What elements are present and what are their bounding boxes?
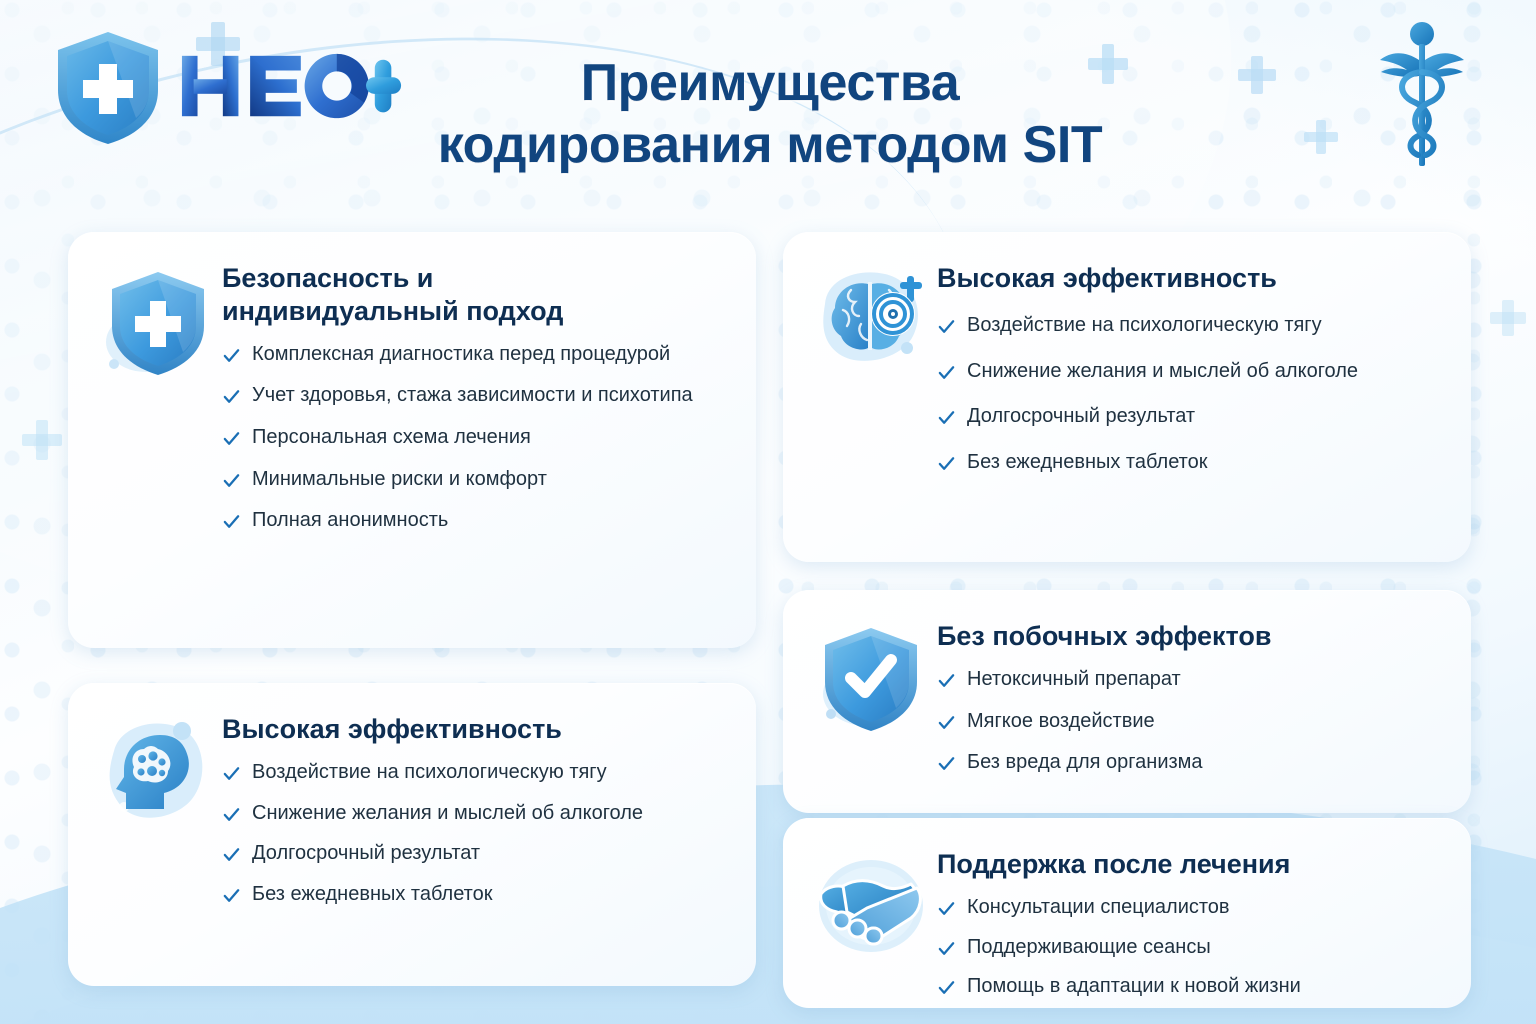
card-title: Безопасность и индивидуальный подход bbox=[222, 262, 730, 328]
card-title-line-2: индивидуальный подход bbox=[222, 295, 730, 328]
card-title-line-1: Без побочных эффектов bbox=[937, 620, 1445, 653]
list-item: Воздействие на психологическую тягу bbox=[222, 760, 730, 786]
card-title: Поддержка после лечения bbox=[937, 848, 1445, 881]
card-body: Высокая эффективность Воздействие на пси… bbox=[222, 709, 730, 962]
list-item-text: Нетоксичный препарат bbox=[967, 667, 1445, 693]
card-no-side-effects: Без побочных эффектов Нетоксичный препар… bbox=[783, 590, 1471, 813]
list-item: Без ежедневных таблеток bbox=[222, 882, 730, 908]
card-effectiveness-right: Высокая эффективность Воздействие на пси… bbox=[783, 232, 1471, 562]
list-item: Нетоксичный препарат bbox=[937, 667, 1445, 693]
list-item-text: Учет здоровья, стажа зависимости и психо… bbox=[252, 383, 730, 409]
list-item: Полная анонимность bbox=[222, 508, 730, 534]
shield-cross-icon bbox=[100, 264, 212, 384]
check-icon bbox=[937, 754, 956, 773]
card-effectiveness-left: Высокая эффективность Воздействие на пси… bbox=[68, 683, 756, 986]
page-title: Преимущества кодирования методом SIT bbox=[300, 52, 1240, 177]
card-icon-wrap bbox=[805, 258, 937, 538]
list-item: Мягкое воздействие bbox=[937, 709, 1445, 735]
check-icon bbox=[222, 512, 241, 531]
check-icon bbox=[937, 713, 956, 732]
feature-list: Комплексная диагностика перед процедурой… bbox=[222, 342, 730, 534]
card-title: Высокая эффективность bbox=[937, 262, 1445, 295]
list-item-text: Без ежедневных таблеток bbox=[252, 882, 730, 908]
check-icon bbox=[222, 471, 241, 490]
card-body: Поддержка после лечения Консультации спе… bbox=[937, 844, 1445, 984]
list-item-text: Без вреда для организма bbox=[967, 750, 1445, 776]
check-icon bbox=[937, 408, 956, 427]
head-brain-icon bbox=[98, 715, 214, 831]
check-icon bbox=[937, 978, 956, 997]
card-title: Без побочных эффектов bbox=[937, 620, 1445, 653]
feature-list: Воздействие на психологическую тягу Сниж… bbox=[222, 760, 730, 907]
check-icon bbox=[222, 346, 241, 365]
list-item: Поддерживающие сеансы bbox=[937, 935, 1445, 961]
handshake-icon bbox=[813, 850, 929, 962]
page-title-line-1: Преимущества bbox=[300, 52, 1240, 114]
card-title-line-1: Безопасность и bbox=[222, 262, 730, 295]
shield-check-icon bbox=[815, 622, 927, 740]
card-title-line-1: Высокая эффективность bbox=[937, 262, 1445, 295]
check-icon bbox=[222, 764, 241, 783]
list-item-text: Персональная схема лечения bbox=[252, 425, 730, 451]
list-item: Минимальные риски и комфорт bbox=[222, 467, 730, 493]
page-title-line-2: кодирования методом SIT bbox=[300, 114, 1240, 176]
card-title-line-1: Поддержка после лечения bbox=[937, 848, 1445, 881]
list-item: Без ежедневных таблеток bbox=[937, 450, 1445, 476]
list-item-text: Снижение желания и мыслей об алкоголе bbox=[967, 359, 1445, 385]
decorative-cross-icon bbox=[1490, 300, 1526, 336]
check-icon bbox=[937, 317, 956, 336]
list-item: Персональная схема лечения bbox=[222, 425, 730, 451]
list-item-text: Мягкое воздействие bbox=[967, 709, 1445, 735]
check-icon bbox=[937, 363, 956, 382]
list-item: Консультации специалистов bbox=[937, 895, 1445, 921]
check-icon bbox=[222, 429, 241, 448]
shield-cross-icon bbox=[52, 28, 164, 146]
card-icon-wrap bbox=[90, 258, 222, 624]
list-item: Долгосрочный результат bbox=[222, 841, 730, 867]
list-item-text: Долгосрочный результат bbox=[252, 841, 730, 867]
list-item: Помощь в адаптации к новой жизни bbox=[937, 974, 1445, 1000]
list-item-text: Комплексная диагностика перед процедурой bbox=[252, 342, 730, 368]
card-icon-wrap bbox=[90, 709, 222, 962]
list-item: Без вреда для организма bbox=[937, 750, 1445, 776]
card-icon-wrap bbox=[805, 844, 937, 984]
list-item-text: Поддерживающие сеансы bbox=[967, 935, 1445, 961]
decorative-cross-icon bbox=[22, 420, 62, 460]
card-title-line-1: Высокая эффективность bbox=[222, 713, 730, 746]
list-item-text: Без ежедневных таблеток bbox=[967, 450, 1445, 476]
list-item-text: Воздействие на психологическую тягу bbox=[967, 313, 1445, 339]
list-item: Воздействие на психологическую тягу bbox=[937, 313, 1445, 339]
list-item-text: Воздействие на психологическую тягу bbox=[252, 760, 730, 786]
card-title: Высокая эффективность bbox=[222, 713, 730, 746]
check-icon bbox=[222, 886, 241, 905]
check-icon bbox=[937, 671, 956, 690]
list-item: Снижение желания и мыслей об алкоголе bbox=[222, 801, 730, 827]
check-icon bbox=[222, 845, 241, 864]
list-item-text: Минимальные риски и комфорт bbox=[252, 467, 730, 493]
card-body: Высокая эффективность Воздействие на пси… bbox=[937, 258, 1445, 538]
list-item-text: Долгосрочный результат bbox=[967, 404, 1445, 430]
caduceus-icon bbox=[1374, 18, 1470, 178]
check-icon bbox=[222, 805, 241, 824]
card-safety: Безопасность и индивидуальный подход Ком… bbox=[68, 232, 756, 648]
check-icon bbox=[222, 387, 241, 406]
list-item-text: Консультации специалистов bbox=[967, 895, 1445, 921]
card-body: Безопасность и индивидуальный подход Ком… bbox=[222, 258, 730, 624]
feature-list: Консультации специалистов Поддерживающие… bbox=[937, 895, 1445, 1000]
list-item-text: Помощь в адаптации к новой жизни bbox=[967, 974, 1445, 1000]
list-item: Учет здоровья, стажа зависимости и психо… bbox=[222, 383, 730, 409]
list-item: Долгосрочный результат bbox=[937, 404, 1445, 430]
check-icon bbox=[937, 899, 956, 918]
brain-target-icon bbox=[811, 264, 931, 376]
check-icon bbox=[937, 454, 956, 473]
check-icon bbox=[937, 939, 956, 958]
card-icon-wrap bbox=[805, 616, 937, 789]
list-item-text: Снижение желания и мыслей об алкоголе bbox=[252, 801, 730, 827]
feature-list: Воздействие на психологическую тягу Сниж… bbox=[937, 313, 1445, 475]
card-support: Поддержка после лечения Консультации спе… bbox=[783, 818, 1471, 1008]
list-item: Снижение желания и мыслей об алкоголе bbox=[937, 359, 1445, 385]
infographic-page: Преимущества кодирования методом SIT bbox=[0, 0, 1536, 1024]
list-item-text: Полная анонимность bbox=[252, 508, 730, 534]
list-item: Комплексная диагностика перед процедурой bbox=[222, 342, 730, 368]
feature-list: Нетоксичный препарат Мягкое воздействие … bbox=[937, 667, 1445, 776]
card-body: Без побочных эффектов Нетоксичный препар… bbox=[937, 616, 1445, 789]
page-header: Преимущества кодирования методом SIT bbox=[0, 0, 1536, 210]
